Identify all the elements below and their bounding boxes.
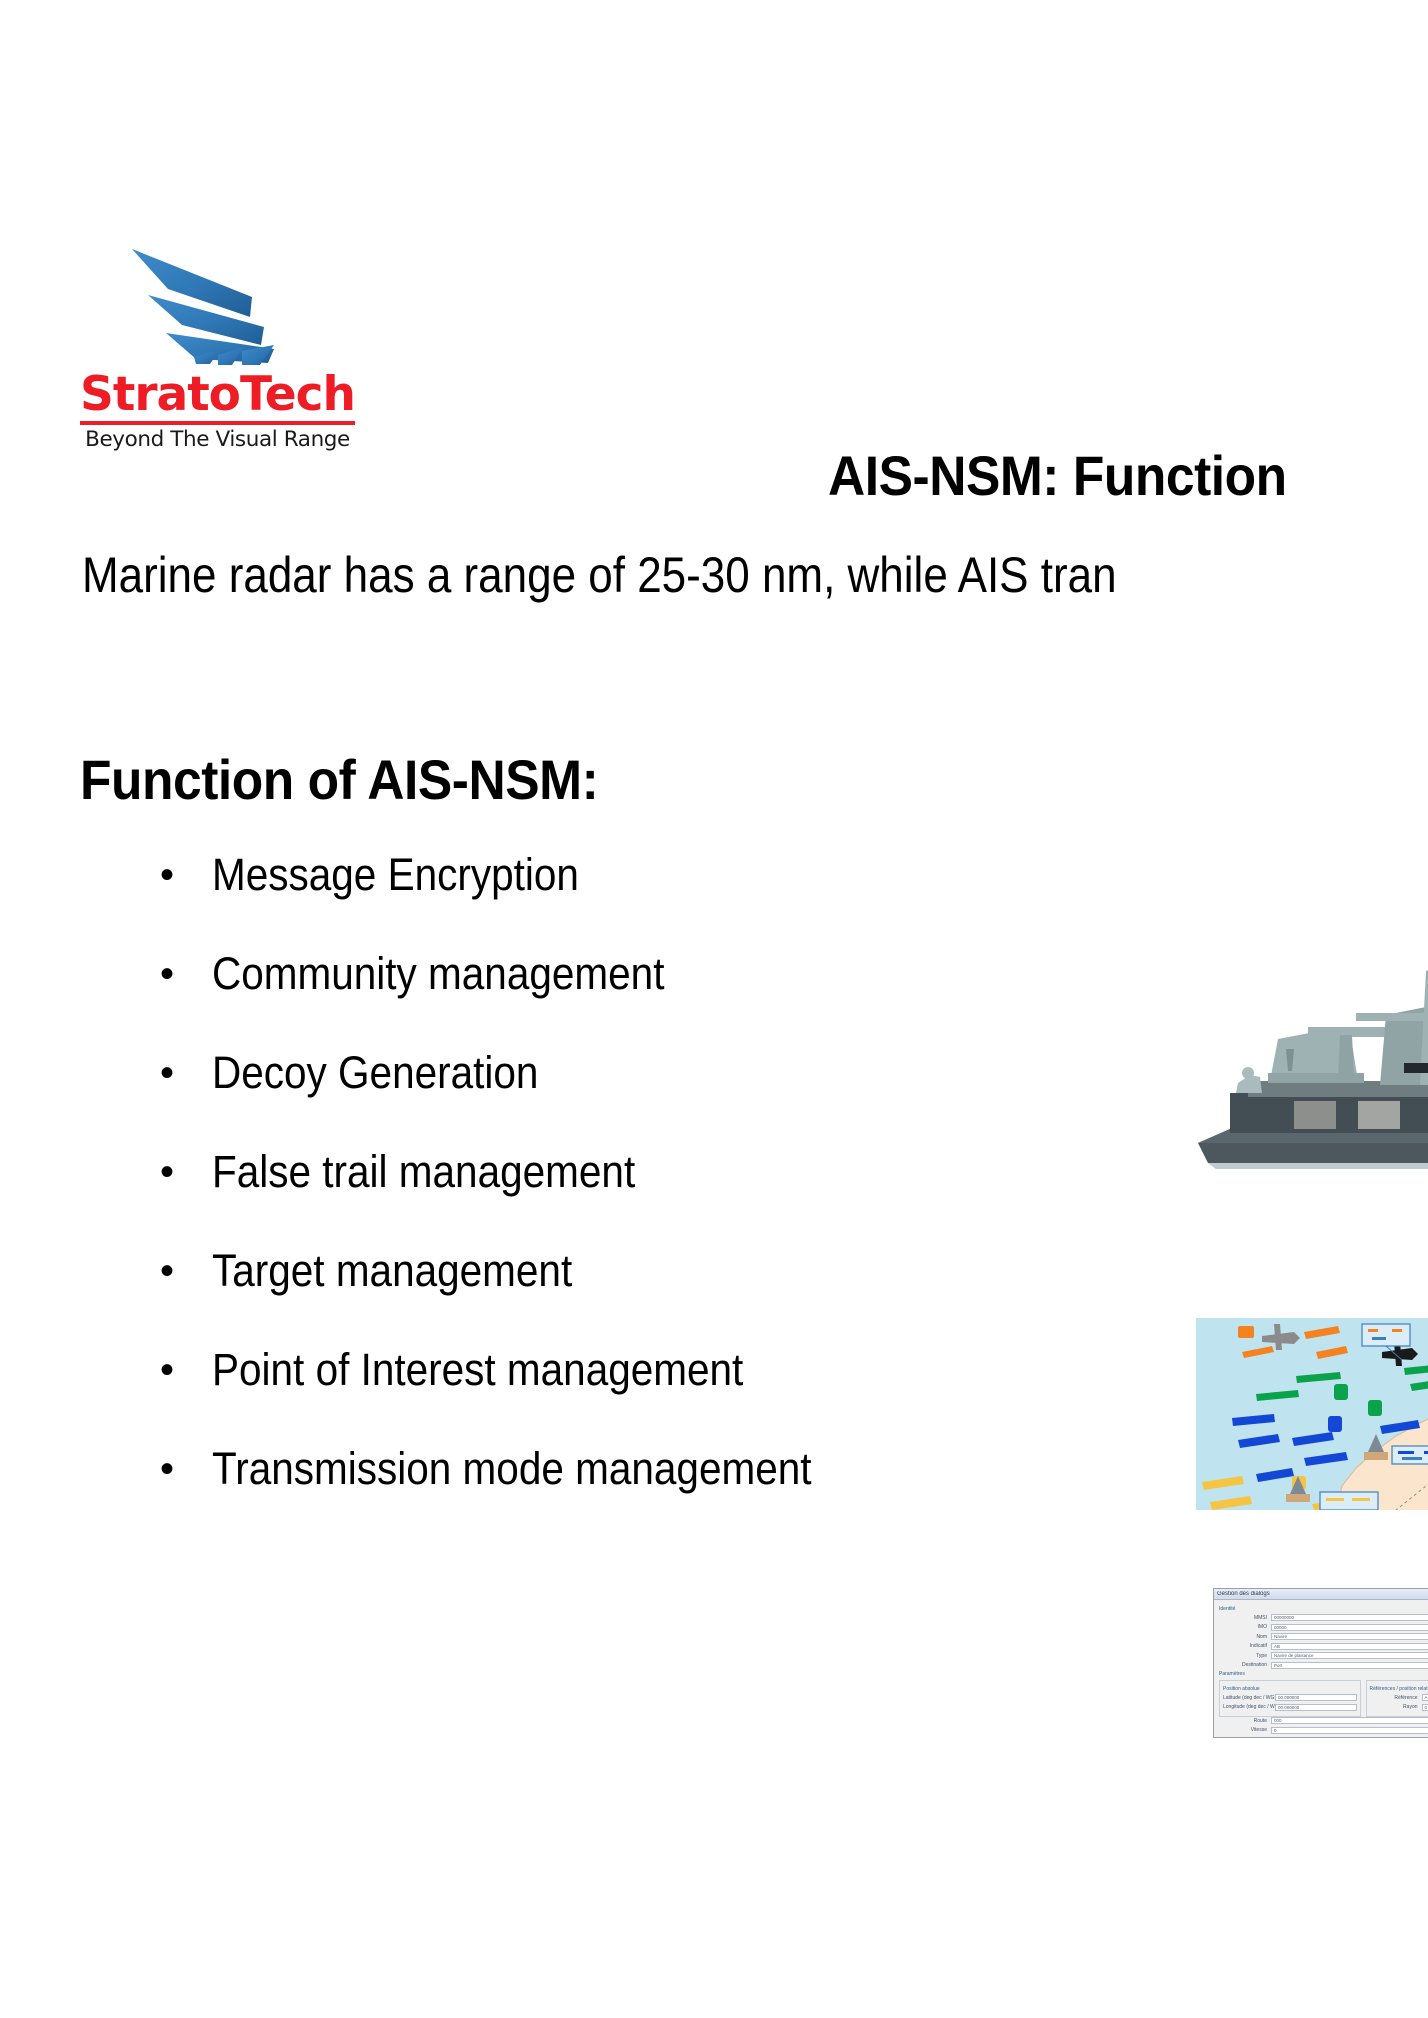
dialog-column-group: Position absolue Latitude (deg dec / WGS… (1219, 1680, 1428, 1717)
dialog-field-value[interactable]: 000 (1271, 1717, 1428, 1724)
dialog-field-value[interactable]: 00.000000 (1275, 1704, 1357, 1711)
company-logo: StratoTech Beyond The Visual Range (80, 245, 370, 475)
configuration-dialog-screenshot: Gestion des dialogs Identité MMSI 000000… (1213, 1588, 1428, 1738)
dialog-group-label-identity: Identité (1219, 1606, 1428, 1612)
bullet-text: Decoy Generation (212, 1043, 538, 1103)
dialog-field-row: MMSI 00000000 (1219, 1614, 1428, 1621)
bullet-text: False trail management (212, 1142, 635, 1202)
dialog-field-label: Nom (1219, 1634, 1271, 1640)
dialog-field-label: Référence (1370, 1695, 1422, 1701)
dialog-field-row: Route 000 (1219, 1717, 1428, 1724)
dialog-field-label: Destination (1219, 1662, 1271, 1668)
bullet-text: Message Encryption (212, 845, 579, 905)
list-item: • Transmission mode management (150, 1439, 1100, 1538)
dialog-field-value[interactable]: Navire (1271, 1633, 1428, 1640)
dialog-field-row: Indicatif AB (1219, 1643, 1428, 1650)
list-item: • Decoy Generation (150, 1043, 1100, 1142)
list-item: • Message Encryption (150, 845, 1100, 944)
dialog-field-label: Route (1219, 1718, 1271, 1724)
dialog-field-row: Vitesse 0 (1219, 1727, 1428, 1734)
dialog-titlebar: Gestion des dialogs (1214, 1589, 1428, 1600)
dialog-field-row: Latitude (deg dec / WGS 84) 00.000000 (1223, 1694, 1357, 1701)
bullet-text: Community management (212, 944, 664, 1004)
dialog-field-value[interactable]: AB (1271, 1643, 1428, 1650)
function-bullet-list: • Message Encryption • Community managem… (150, 845, 1100, 1538)
dialog-field-value[interactable]: 00000 (1271, 1624, 1428, 1631)
dialog-field-label: Type (1219, 1653, 1271, 1659)
list-item: • Target management (150, 1241, 1100, 1340)
bullet-marker: • (150, 1142, 212, 1202)
list-item: • Community management (150, 944, 1100, 1043)
slide-subtitle: Marine radar has a range of 25-30 nm, wh… (82, 546, 1117, 604)
bullet-text: Transmission mode management (212, 1439, 812, 1499)
dialog-field-label: Vitesse (1219, 1727, 1271, 1733)
dialog-field-label: Latitude (deg dec / WGS 84) (1223, 1695, 1275, 1701)
bullet-marker: • (150, 1340, 212, 1400)
section-heading: Function of AIS-NSM: (80, 747, 598, 812)
dialog-field-row: Destination Port (1219, 1662, 1428, 1669)
dialog-field-row: Nom Navire (1219, 1633, 1428, 1640)
dialog-column-relative-position: Références / position relative Référence… (1366, 1680, 1428, 1717)
logo-wordmark: StratoTech Beyond The Visual Range (80, 371, 355, 452)
slide-title: AIS-NSM: Function (828, 443, 1287, 508)
dialog-field-label: Longitude (deg dec / WGS 84) (1223, 1704, 1275, 1710)
dialog-subgroup-label-b: Références / position relative (1370, 1686, 1428, 1692)
bullet-text: Target management (212, 1241, 572, 1301)
dialog-field-label: Rayon (1370, 1704, 1422, 1710)
dialog-field-value[interactable]: Port (1271, 1662, 1428, 1669)
bullet-marker: • (150, 1439, 212, 1499)
tactical-situation-map (1196, 1318, 1428, 1510)
bullet-marker: • (150, 944, 212, 1004)
bullet-marker: • (150, 1241, 212, 1301)
dialog-field-row: Référence A (1370, 1694, 1428, 1701)
dialog-dropdown-value[interactable]: Navire de plaisance (1271, 1652, 1428, 1659)
logo-tagline: Beyond The Visual Range (80, 429, 355, 452)
dialog-title: Gestion des dialogs (1217, 1591, 1270, 1597)
dialog-field-value[interactable]: 00.000000 (1275, 1694, 1357, 1701)
dialog-field-label: IMO (1219, 1624, 1271, 1630)
dialog-subgroup-label-a: Position absolue (1223, 1686, 1357, 1692)
dialog-field-label: MMSI (1219, 1615, 1271, 1621)
wing-icon (128, 245, 288, 365)
presentation-slide: StratoTech Beyond The Visual Range AIS-N… (0, 0, 1428, 2018)
bullet-marker: • (150, 845, 212, 905)
naval-warship-illustration (1190, 915, 1428, 1185)
dialog-field-row: Rayon 0 (1370, 1704, 1428, 1711)
dialog-field-row: Longitude (deg dec / WGS 84) 00.000000 (1223, 1704, 1357, 1711)
dialog-field-row: Type Navire de plaisance (1219, 1652, 1428, 1659)
dialog-field-label: Indicatif (1219, 1643, 1271, 1649)
dialog-column-absolute-position: Position absolue Latitude (deg dec / WGS… (1219, 1680, 1361, 1717)
logo-company-name: StratoTech (80, 371, 355, 418)
dialog-field-row: IMO 00000 (1219, 1624, 1428, 1631)
dialog-body: Identité MMSI 00000000 IMO 00000 Nom Nav… (1214, 1600, 1428, 1738)
list-item: • Point of Interest management (150, 1340, 1100, 1439)
dialog-field-value[interactable]: A (1422, 1694, 1428, 1701)
dialog-field-value[interactable]: 0 (1271, 1727, 1428, 1734)
bullet-marker: • (150, 1043, 212, 1103)
dialog-group-label-parameters: Paramètres (1219, 1671, 1428, 1677)
dialog-field-value[interactable]: 0 (1422, 1704, 1428, 1711)
dialog-field-value[interactable]: 00000000 (1271, 1614, 1428, 1621)
list-item: • False trail management (150, 1142, 1100, 1241)
bullet-text: Point of Interest management (212, 1340, 743, 1400)
